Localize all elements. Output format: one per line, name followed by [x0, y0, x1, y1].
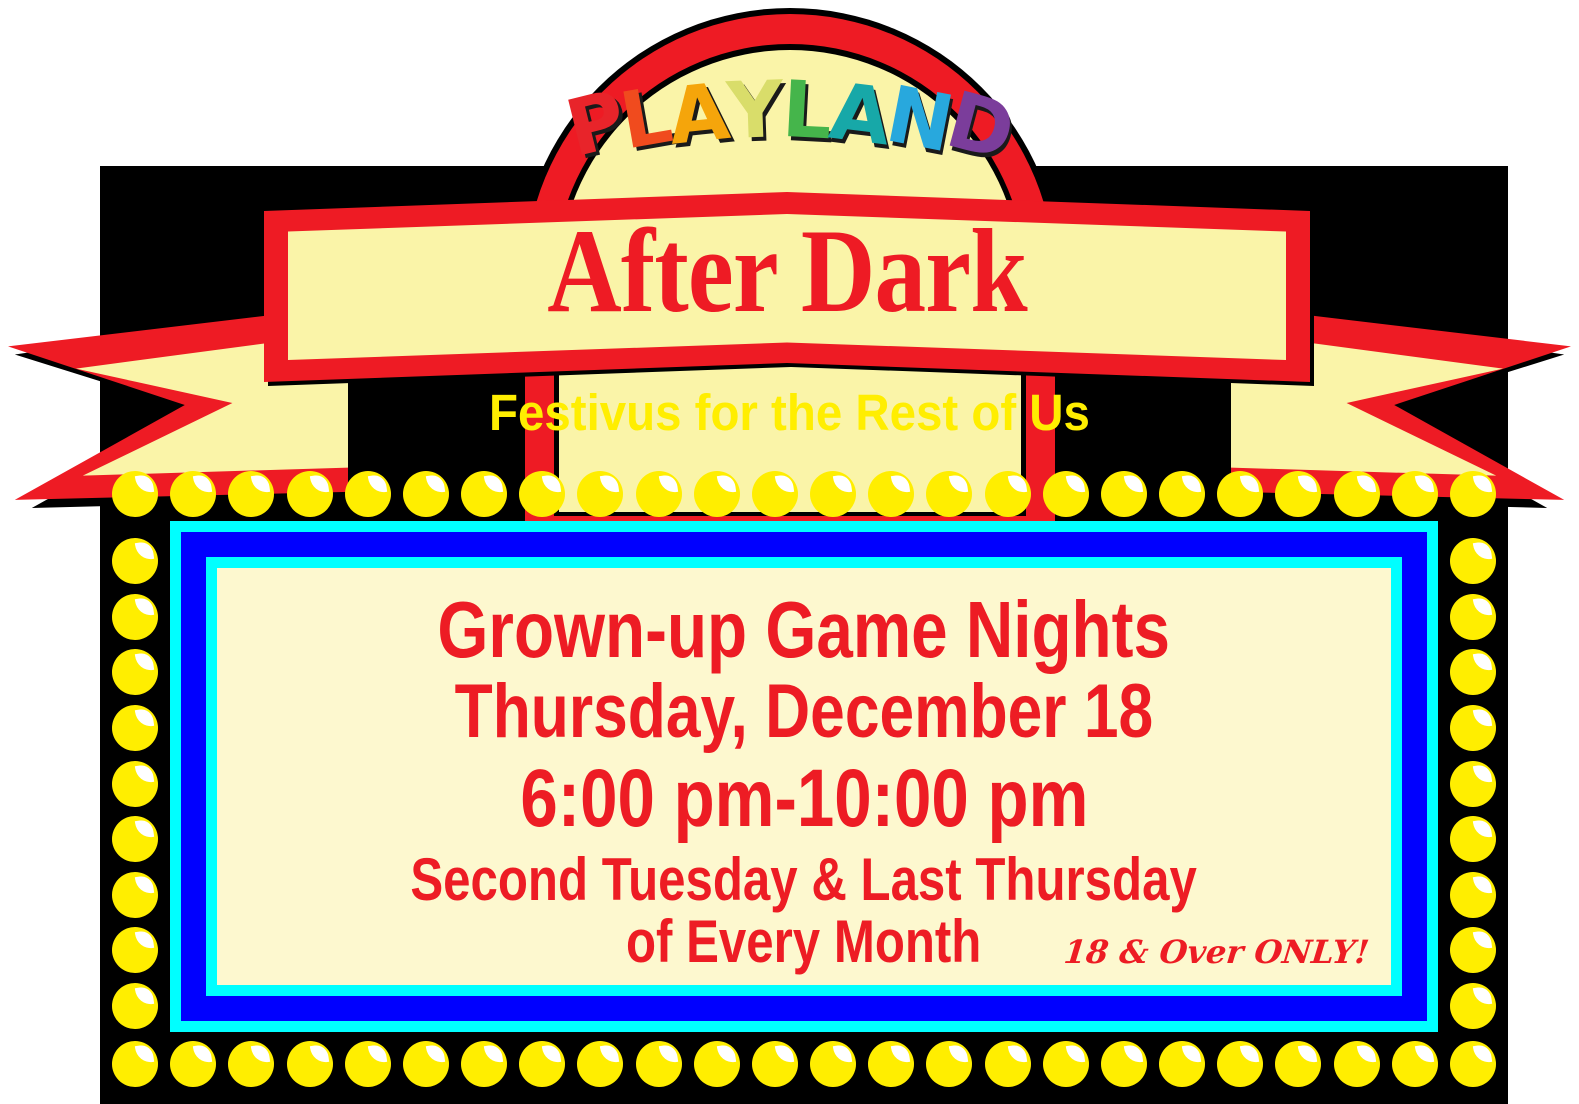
headline-text: After Dark	[358, 206, 1216, 336]
marquee-line-1: Grown-up Game Nights	[438, 590, 1171, 670]
playland-logo: PLAYLAND	[565, 78, 1015, 198]
playland-letter-a-2: A	[665, 73, 731, 157]
marquee-sign-poster: PLAYLAND After Dark Festivus for the Res…	[0, 0, 1579, 1104]
marquee-line-2: Thursday, December 18	[455, 674, 1154, 750]
marquee-line-3: 6:00 pm-10:00 pm	[520, 758, 1088, 840]
playland-letter-y-3: Y	[726, 71, 783, 151]
tagline-text: Festivus for the Rest of Us	[55, 383, 1523, 442]
marquee-line-5: of Every Month	[626, 912, 981, 972]
marquee-line-4: Second Tuesday & Last Thursday	[411, 850, 1197, 910]
playland-letter-l-4: L	[780, 71, 832, 151]
age-restriction-note: 18 & Over ONLY!	[1062, 933, 1371, 971]
marquee-message: Grown-up Game Nights Thursday, December …	[217, 572, 1391, 985]
